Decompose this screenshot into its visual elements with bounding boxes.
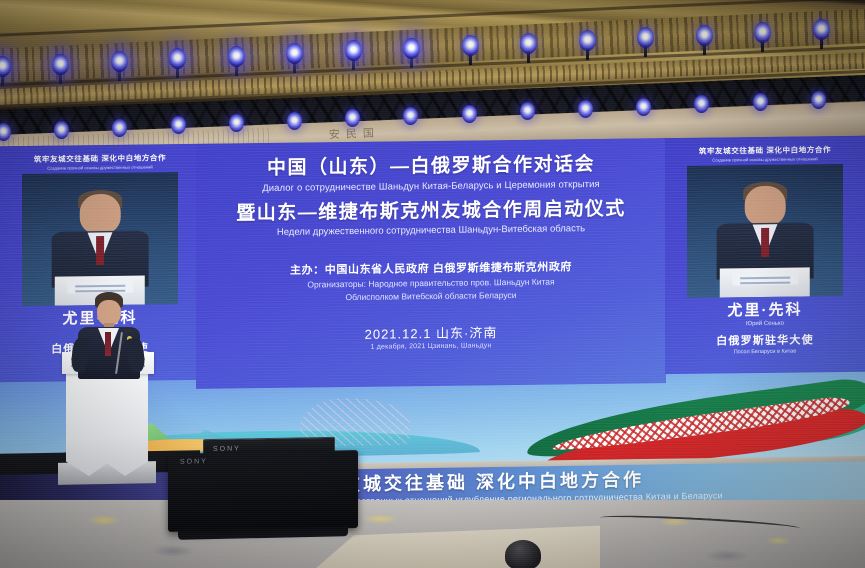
feed-speaker-left — [22, 172, 178, 306]
speaker-title-cn-right: 白俄罗斯驻华大使 — [665, 331, 865, 349]
feed-tie-right — [761, 228, 769, 257]
side-panel-left-video-feed — [22, 172, 178, 306]
stage-light — [811, 91, 826, 109]
stage-light — [520, 102, 535, 120]
stage-light — [578, 100, 593, 118]
stage-light — [462, 35, 479, 56]
stage-light — [636, 98, 651, 116]
stage-light — [111, 51, 128, 72]
conference-stage-photo: 安民国 筑牢友城交往基础 深化中白地方合作 Создание прочной о… — [0, 0, 865, 568]
venue-wall-text: 安民国 — [329, 124, 381, 142]
feed-podium-sign-right — [732, 273, 798, 286]
carpet — [0, 500, 865, 568]
side-panel-right-nameplate: 尤里·先科 Юрий Сенько 白俄罗斯驻华大使 Посол Беларус… — [665, 298, 865, 356]
stage-light — [579, 30, 596, 51]
stage-light — [54, 121, 69, 139]
speaker-necktie — [105, 332, 111, 356]
ceiling: 安民国 — [0, 0, 865, 148]
date-location-block: 2021.12.1 山东·济南 1 декабря, 2021 Цзинань,… — [196, 320, 666, 353]
side-panel-right: 筑牢友城交往基础 深化中白地方合作 Создание прочной основ… — [665, 136, 865, 374]
stage-light — [754, 22, 771, 43]
stage-light — [696, 25, 713, 46]
podium-microphone-head — [124, 328, 132, 333]
feed-head — [80, 194, 121, 234]
stage-light — [229, 114, 244, 132]
foreground-microphone — [505, 540, 541, 568]
speaker-title-ru-right: Посол Беларуси в Китае — [665, 348, 865, 356]
speaker-name-ru-right: Юрий Сенько — [665, 320, 865, 328]
stage-light — [462, 105, 477, 123]
stage-light — [520, 33, 537, 54]
event-title-cn-2: 暨山东—维捷布斯克州友城合作周启动仪式 — [196, 193, 666, 226]
stage-light — [287, 112, 302, 130]
stage-monitor-large: SONY — [168, 450, 358, 532]
stage-light — [228, 46, 245, 67]
feed-speaker-right — [687, 164, 843, 298]
speaker-at-podium — [72, 292, 144, 378]
monitor-brand-label-2: SONY — [180, 458, 208, 466]
speaker-name-cn-right: 尤里·先科 — [665, 298, 865, 321]
stage-light — [171, 116, 186, 134]
event-title-cn-1: 中国（山东）—白俄罗斯合作对话会 — [196, 152, 666, 181]
feed-head-right — [745, 186, 786, 226]
organizer-block: 主办：中国山东省人民政府 白俄罗斯维捷布斯克州政府 Организаторы: … — [196, 257, 666, 306]
center-title-panel: 中国（山东）—白俄罗斯合作对话会 Диалог о сотрудничестве… — [196, 138, 666, 389]
stage-light — [753, 93, 768, 111]
side-panel-right-video-feed — [687, 164, 843, 298]
feed-tie — [96, 236, 104, 265]
stage-light — [112, 119, 127, 137]
speaker-arm-right — [126, 337, 145, 372]
stage-light — [813, 19, 830, 40]
podium — [66, 372, 148, 476]
